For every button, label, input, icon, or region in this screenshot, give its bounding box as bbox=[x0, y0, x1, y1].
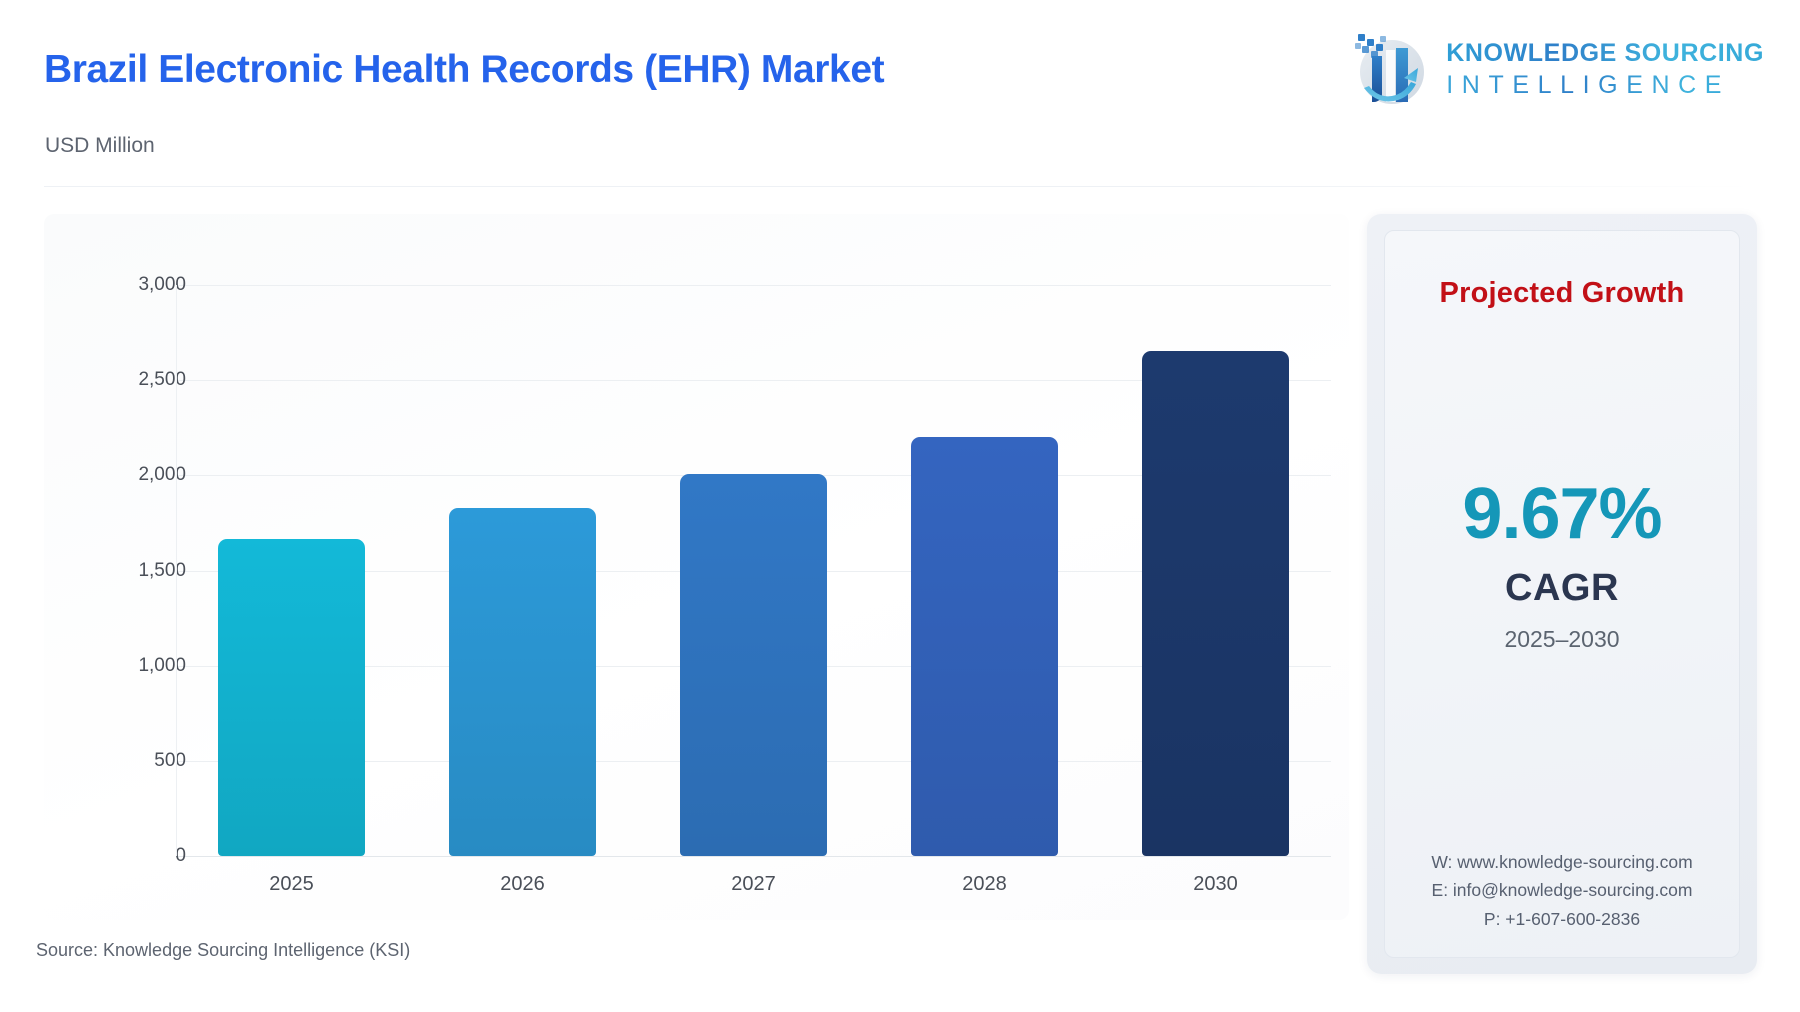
cagr-period: 2025–2030 bbox=[1385, 626, 1739, 653]
bar-2027[interactable] bbox=[680, 474, 827, 856]
bar-2025[interactable] bbox=[218, 539, 365, 856]
x-axis-tick-label-2025: 2025 bbox=[269, 873, 314, 896]
projected-growth-panel: Projected Growth 9.67% CAGR 2025–2030 W:… bbox=[1367, 214, 1757, 974]
contact-email: E: info@knowledge-sourcing.com bbox=[1385, 876, 1739, 904]
y-axis-tick-label: 500 bbox=[76, 750, 186, 772]
chart-page: Brazil Electronic Health Records (EHR) M… bbox=[0, 0, 1800, 1012]
y-axis-tick-label: 2,500 bbox=[76, 369, 186, 391]
contact-phone: P: +1-607-600-2836 bbox=[1385, 905, 1739, 933]
header-divider bbox=[44, 186, 1754, 187]
panel-title: Projected Growth bbox=[1385, 277, 1739, 310]
logo-line-two: INTELLIGENCE bbox=[1446, 73, 1764, 98]
contact-website: W: www.knowledge-sourcing.com bbox=[1385, 848, 1739, 876]
projected-growth-panel-inner: Projected Growth 9.67% CAGR 2025–2030 W:… bbox=[1384, 230, 1740, 958]
y-axis-tick-label: 3,000 bbox=[76, 274, 186, 296]
cagr-label: CAGR bbox=[1385, 567, 1739, 610]
y-axis-tick-label: 1,500 bbox=[76, 560, 186, 582]
company-logo: KNOWLEDGE SOURCING INTELLIGENCE bbox=[1346, 26, 1764, 112]
contact-block: W: www.knowledge-sourcing.com E: info@kn… bbox=[1385, 848, 1739, 933]
chart-card: 05001,0001,5002,0002,5003,00020252026202… bbox=[44, 214, 1349, 920]
x-axis-tick-label-2026: 2026 bbox=[500, 873, 545, 896]
y-axis-tick-label: 2,000 bbox=[76, 464, 186, 486]
bars-container: 20252026202720282030 bbox=[176, 214, 1331, 920]
bar-2030[interactable] bbox=[1142, 351, 1289, 856]
y-axis-tick-label: 1,000 bbox=[76, 655, 186, 677]
page-header: Brazil Electronic Health Records (EHR) M… bbox=[0, 0, 1800, 180]
source-note: Source: Knowledge Sourcing Intelligence … bbox=[36, 940, 410, 961]
x-axis-tick-label-2028: 2028 bbox=[962, 873, 1007, 896]
logo-line-one: KNOWLEDGE SOURCING bbox=[1446, 41, 1764, 66]
page-title: Brazil Electronic Health Records (EHR) M… bbox=[44, 48, 884, 92]
cagr-value: 9.67% bbox=[1385, 473, 1739, 555]
y-axis-tick-label: 0 bbox=[76, 845, 186, 867]
x-axis-tick-label-2030: 2030 bbox=[1193, 873, 1238, 896]
x-axis-tick-label-2027: 2027 bbox=[731, 873, 776, 896]
bar-chart-plot: 05001,0001,5002,0002,5003,00020252026202… bbox=[44, 214, 1349, 920]
ksi-circular-bars-arrow-logo-icon bbox=[1346, 26, 1432, 112]
bar-2026[interactable] bbox=[449, 508, 596, 856]
bar-2028[interactable] bbox=[911, 437, 1058, 856]
chart-unit-subtitle: USD Million bbox=[45, 134, 155, 158]
logo-wordmark: KNOWLEDGE SOURCING INTELLIGENCE bbox=[1446, 41, 1764, 98]
